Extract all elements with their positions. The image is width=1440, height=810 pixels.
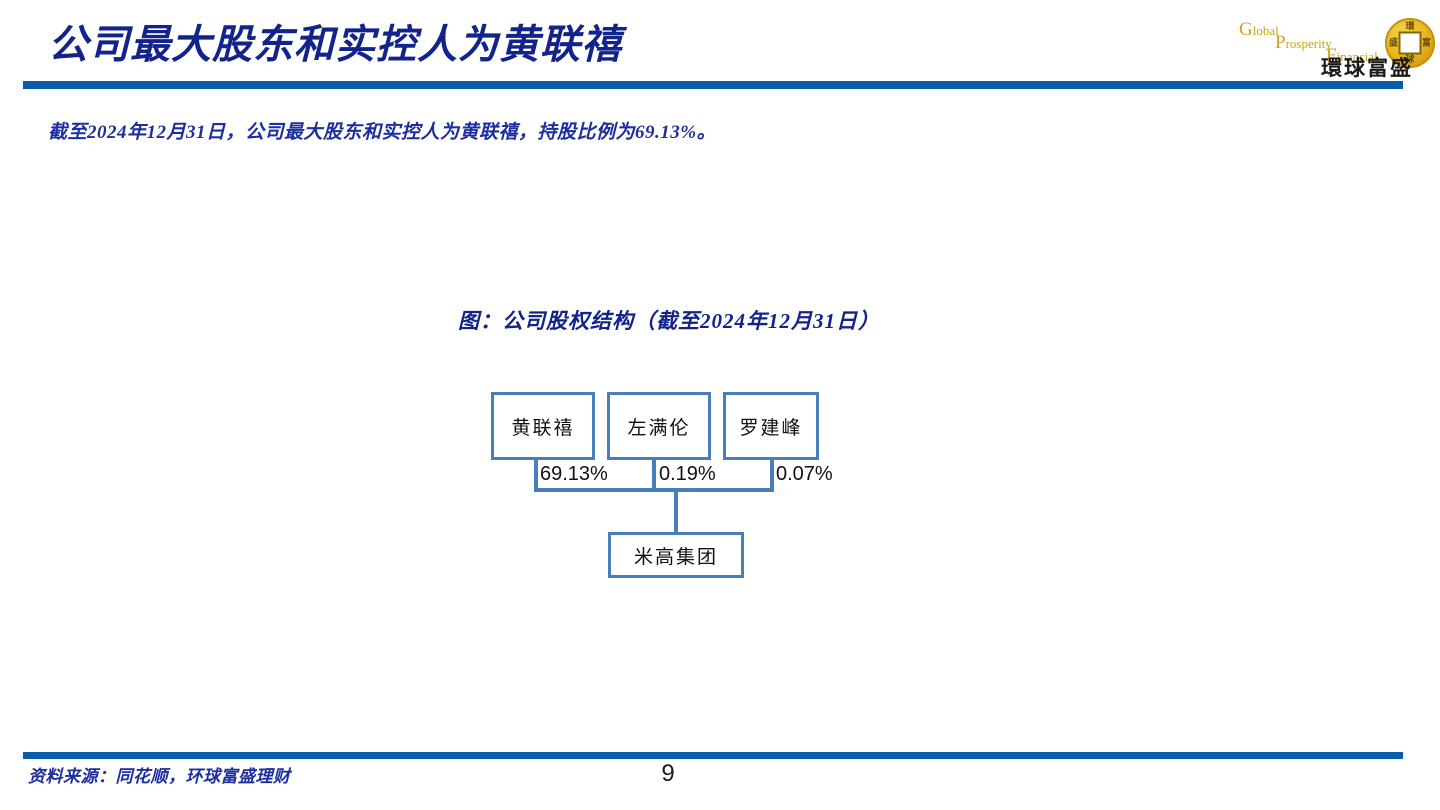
brand-logo: Global Prosperity Financial 環 球 盛 富 環球富盛 <box>1207 2 1437 82</box>
org-node-shareholder-3[interactable]: 罗建峰 <box>723 392 819 460</box>
ownership-pct-2: 0.19% <box>659 463 716 486</box>
body-paragraph: 截至2024年12月31日，公司最大股东和实控人为黄联禧，持股比例为69.13%… <box>48 117 716 144</box>
source-note: 资料来源：同花顺，环球富盛理财 <box>28 762 291 787</box>
logo-word-prosperity: Prosperity <box>1275 33 1332 52</box>
org-node-shareholder-2[interactable]: 左满伦 <box>607 392 711 460</box>
org-node-company[interactable]: 米高集团 <box>608 532 744 578</box>
page-number: 9 <box>640 760 696 788</box>
header-divider <box>23 81 1403 89</box>
figure-title: 图：公司股权结构（截至2024年12月31日） <box>0 305 1440 335</box>
coin-char-top: 環 <box>1405 22 1414 31</box>
coin-char-right: 富 <box>1422 39 1431 48</box>
logo-chinese-name: 環球富盛 <box>1297 52 1437 82</box>
logo-word-global: Global <box>1239 20 1279 39</box>
figure-title-text: 图：公司股权结构（截至2024年12月31日） <box>458 305 880 335</box>
coin-char-left: 盛 <box>1389 39 1398 48</box>
ownership-pct-1: 69.13% <box>540 463 608 486</box>
page-title: 公司最大股东和实控人为黄联禧 <box>48 8 1168 74</box>
ownership-pct-3: 0.07% <box>776 463 833 486</box>
org-node-shareholder-1[interactable]: 黄联禧 <box>491 392 595 460</box>
footer-divider <box>23 752 1403 759</box>
